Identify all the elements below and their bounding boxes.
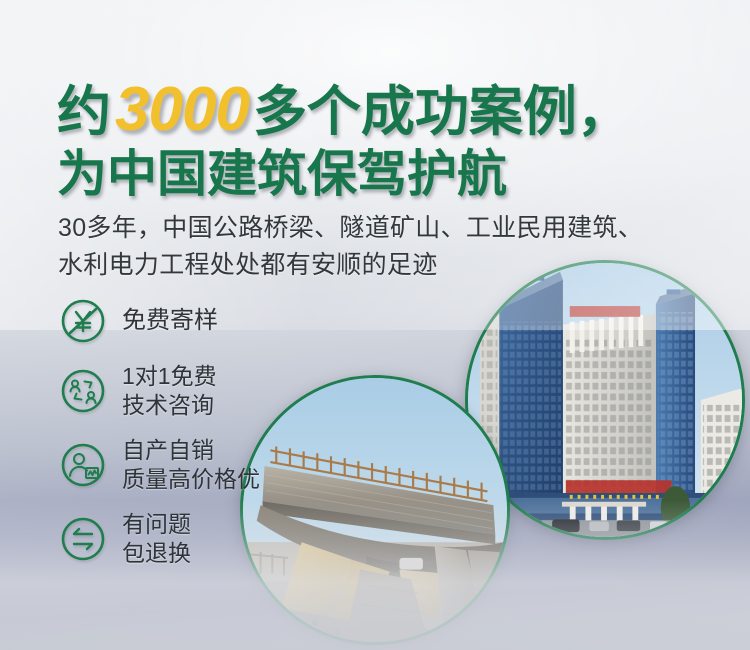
bridge-photo: [240, 375, 510, 645]
feature-label-line-1: 自产自销: [122, 437, 214, 463]
feature-label-line-1: 免费寄样: [122, 307, 218, 334]
feature-label-line-1: 1对1免费: [122, 363, 217, 389]
feature-item-self-production: 自产自销 质量高价格优: [58, 436, 260, 494]
headline: 约3000多个成功案例， 为中国建筑保驾护航: [57, 78, 717, 202]
feature-label-line-2: 包退换: [122, 540, 191, 566]
feature-item-free-sample: 免费寄样: [58, 296, 260, 346]
promotional-banner: 约3000多个成功案例， 为中国建筑保驾护航 30多年，中国公路桥梁、隧道矿山、…: [0, 0, 750, 650]
free-sample-icon: [58, 296, 108, 346]
feature-item-one-to-one-consult: 1对1免费 技术咨询: [58, 362, 260, 420]
headline-suffix: 多个成功案例，: [253, 82, 631, 142]
feature-label-line-1: 有问题: [122, 511, 191, 537]
subtitle-line-1: 30多年，中国公路桥梁、隧道矿山、工业民用建筑、: [58, 210, 738, 247]
return-exchange-icon: [58, 514, 108, 564]
feature-item-return-exchange: 有问题 包退换: [58, 510, 260, 568]
self-production-icon: [58, 440, 108, 490]
subtitle: 30多年，中国公路桥梁、隧道矿山、工业民用建筑、 水利电力工程处处都有安顺的足迹: [58, 210, 738, 284]
headline-line-1: 约3000多个成功案例，: [57, 78, 717, 141]
bridge-photo-illustration: [243, 378, 507, 642]
one-to-one-consult-icon: [58, 366, 108, 416]
feature-label-line-2: 技术咨询: [122, 392, 214, 418]
feature-label: 免费寄样: [122, 306, 218, 336]
headline-prefix: 约: [57, 82, 111, 142]
feature-label: 自产自销 质量高价格优: [122, 436, 260, 494]
feature-label-line-2: 质量高价格优: [122, 466, 260, 492]
feature-label: 有问题 包退换: [122, 510, 191, 568]
feature-list: 免费寄样 1对1免费 技术咨询: [58, 296, 260, 584]
subtitle-line-2: 水利电力工程处处都有安顺的足迹: [58, 247, 738, 284]
headline-number: 3000: [111, 75, 253, 144]
headline-line-2: 为中国建筑保驾护航: [57, 147, 717, 202]
feature-label: 1对1免费 技术咨询: [122, 362, 217, 420]
